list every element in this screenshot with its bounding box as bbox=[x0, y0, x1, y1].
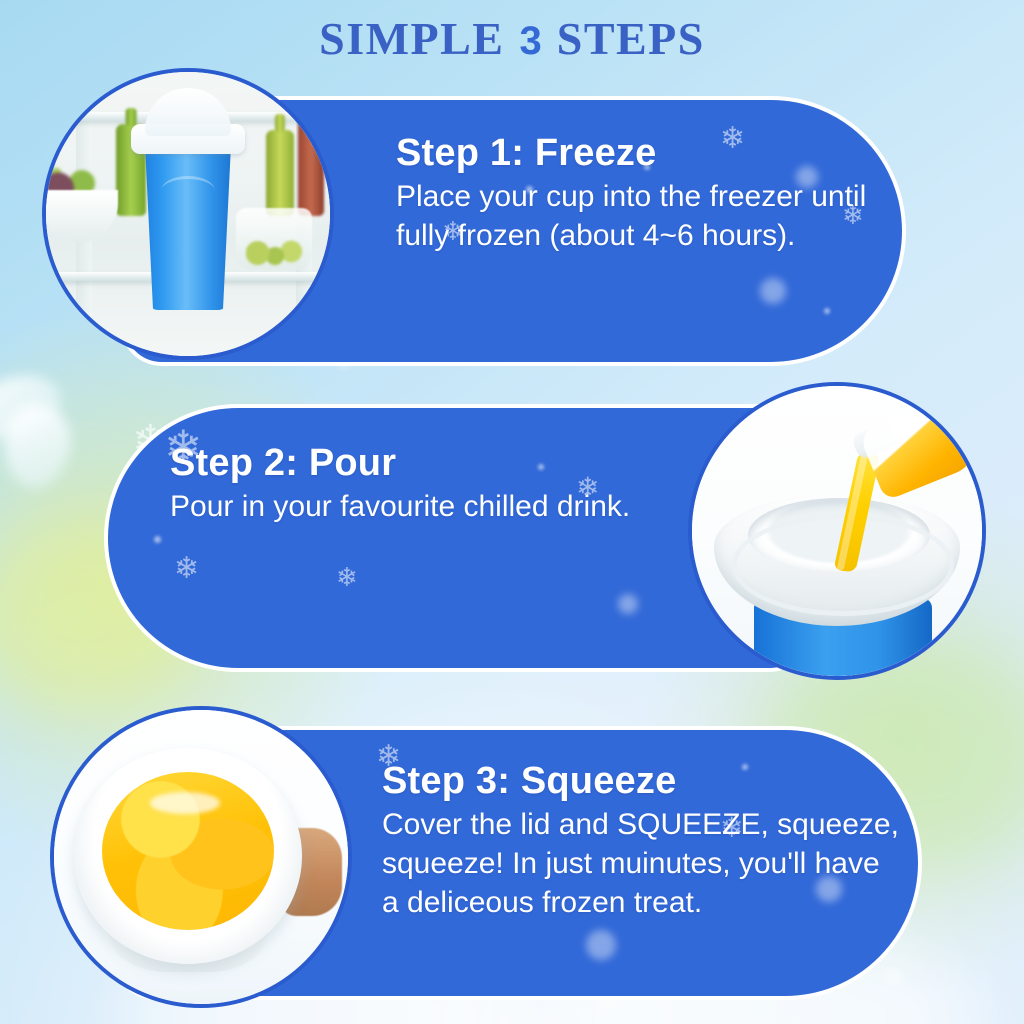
pouring-scene bbox=[692, 386, 982, 676]
bokeh-dot bbox=[154, 536, 161, 543]
slushy-cup-body bbox=[142, 140, 234, 310]
title-number: 3 bbox=[516, 19, 544, 63]
step-3-photo bbox=[50, 706, 352, 1008]
infographic-poster: ❄ ❄ ❄ ❄ SIMPLE 3 STEPS ❄ ❄ ❄ Step 1: Fre… bbox=[0, 0, 1024, 1024]
step-2-text: Step 2: Pour Pour in your favourite chil… bbox=[170, 442, 640, 526]
step-3-text: Step 3: Squeeze Cover the lid and SQUEEZ… bbox=[382, 760, 902, 922]
bottle-icon bbox=[266, 130, 294, 216]
bokeh-dot bbox=[618, 594, 638, 614]
page-title: SIMPLE 3 STEPS bbox=[0, 16, 1024, 62]
ice-cube-decoration bbox=[0, 399, 77, 493]
step-2-body: Pour in your favourite chilled drink. bbox=[170, 487, 640, 526]
ice-cube-decoration bbox=[0, 366, 68, 448]
step-3-heading: Step 3: Squeeze bbox=[382, 760, 902, 803]
step-1-text: Step 1: Freeze Place your cup into the f… bbox=[396, 132, 896, 255]
bokeh-dot bbox=[824, 308, 830, 314]
snowflake-icon: ❄ bbox=[336, 564, 358, 590]
fridge-scene bbox=[46, 72, 330, 356]
step-1-heading: Step 1: Freeze bbox=[396, 132, 896, 175]
step-2-photo bbox=[688, 382, 986, 680]
bottle-icon bbox=[298, 118, 324, 216]
title-prefix: SIMPLE bbox=[319, 13, 504, 64]
bokeh-dot bbox=[884, 968, 902, 986]
bokeh-dot bbox=[760, 278, 786, 304]
step-1-photo bbox=[42, 68, 334, 360]
slush-scene bbox=[54, 710, 348, 1004]
title-suffix: STEPS bbox=[557, 13, 705, 64]
step-2-heading: Step 2: Pour bbox=[170, 442, 640, 485]
step-3-body: Cover the lid and SQUEEZE, squeeze, sque… bbox=[382, 805, 902, 922]
step-1-body: Place your cup into the freezer until fu… bbox=[396, 177, 896, 255]
snowflake-icon: ❄ bbox=[174, 554, 199, 584]
bokeh-dot bbox=[586, 930, 616, 960]
